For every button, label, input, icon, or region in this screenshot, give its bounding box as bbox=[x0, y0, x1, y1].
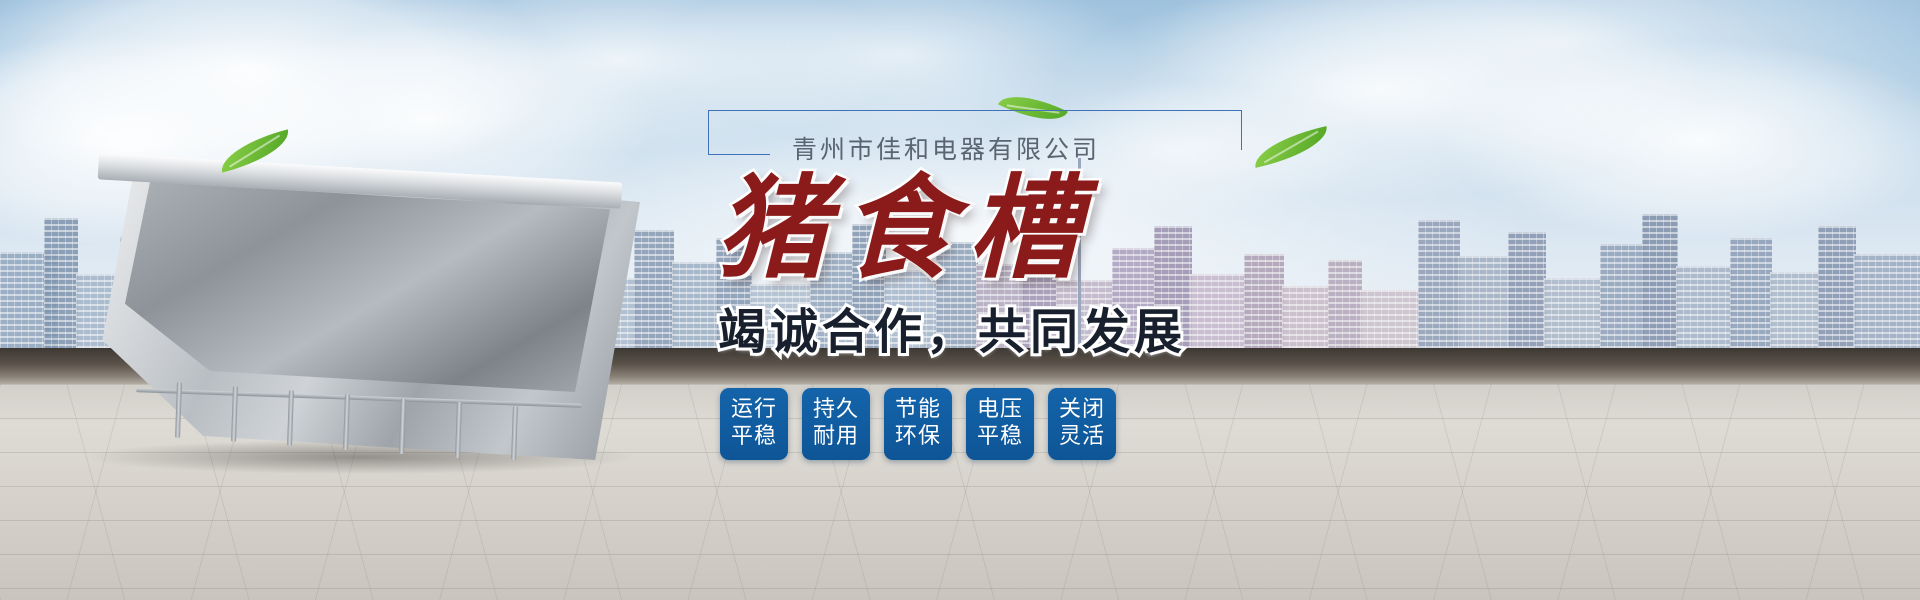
promo-banner: 青州市佳和电器有限公司 猪食槽 竭诚合作，共同发展 运行 平稳 持久 耐用 节能… bbox=[0, 0, 1920, 600]
building bbox=[1818, 226, 1856, 348]
feature-badge-list: 运行 平稳 持久 耐用 节能 环保 电压 平稳 关闭 灵活 bbox=[720, 388, 1250, 460]
badge-line-1: 电压 bbox=[977, 397, 1023, 424]
feature-badge[interactable]: 持久 耐用 bbox=[802, 388, 870, 460]
banner-copy: 青州市佳和电器有限公司 猪食槽 竭诚合作，共同发展 运行 平稳 持久 耐用 节能… bbox=[690, 100, 1250, 460]
badge-line-2: 环保 bbox=[895, 424, 941, 451]
building bbox=[1730, 238, 1772, 348]
badge-line-2: 耐用 bbox=[813, 424, 859, 451]
building bbox=[1244, 254, 1284, 348]
building bbox=[1360, 290, 1420, 348]
feature-badge[interactable]: 关闭 灵活 bbox=[1048, 388, 1116, 460]
feature-badge[interactable]: 电压 平稳 bbox=[966, 388, 1034, 460]
building bbox=[1282, 286, 1330, 348]
frame-line-bottom bbox=[708, 154, 770, 155]
badge-line-2: 平稳 bbox=[977, 424, 1023, 451]
badge-line-1: 持久 bbox=[813, 397, 859, 424]
badge-line-1: 关闭 bbox=[1059, 397, 1105, 424]
building bbox=[1328, 260, 1362, 348]
badge-line-2: 灵活 bbox=[1059, 424, 1105, 451]
company-name: 青州市佳和电器有限公司 bbox=[792, 130, 1100, 166]
building bbox=[1418, 220, 1460, 348]
building bbox=[1508, 232, 1546, 348]
frame-line-top bbox=[708, 110, 1242, 111]
building bbox=[1600, 244, 1644, 348]
frame-line-right bbox=[1241, 110, 1242, 150]
product-image-pig-trough bbox=[80, 160, 640, 460]
building bbox=[1458, 256, 1510, 348]
trough-divider-bar bbox=[175, 382, 182, 438]
building bbox=[1770, 272, 1820, 348]
building bbox=[1854, 254, 1920, 348]
building bbox=[634, 230, 674, 348]
building bbox=[1544, 278, 1602, 348]
building bbox=[44, 218, 78, 348]
sub-title-slogan: 竭诚合作，共同发展 bbox=[718, 292, 1250, 362]
main-title: 猪食槽 bbox=[716, 170, 1250, 288]
feature-badge[interactable]: 节能 环保 bbox=[884, 388, 952, 460]
badge-line-1: 运行 bbox=[731, 397, 777, 424]
badge-line-1: 节能 bbox=[895, 397, 941, 424]
company-name-frame: 青州市佳和电器有限公司 bbox=[690, 100, 1250, 162]
building bbox=[1676, 266, 1732, 348]
frame-line-left bbox=[708, 110, 709, 154]
feature-badge[interactable]: 运行 平稳 bbox=[720, 388, 788, 460]
badge-line-2: 平稳 bbox=[731, 424, 777, 451]
building bbox=[1642, 214, 1678, 348]
